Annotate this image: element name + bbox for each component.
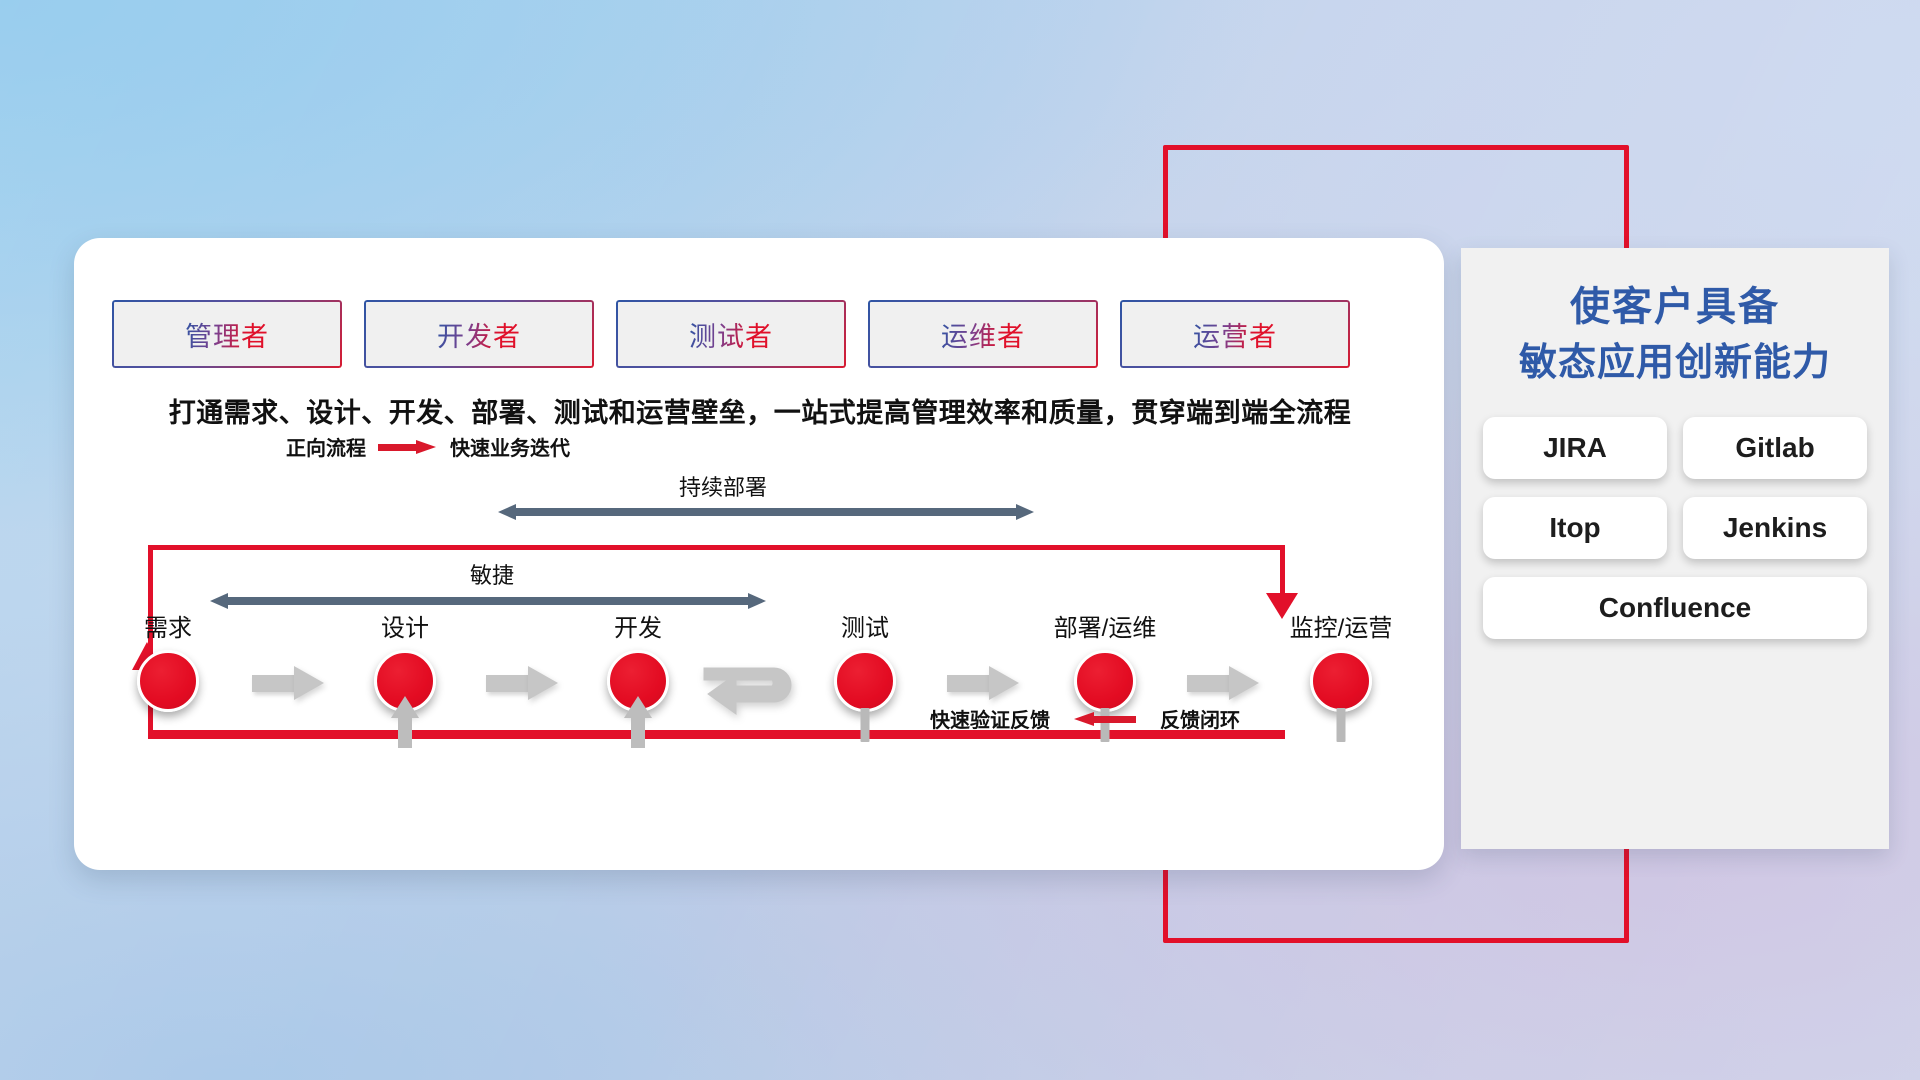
role-chip-tester[interactable]: 测试者	[616, 300, 846, 368]
pipeline-node-label: 监控/运营	[1290, 608, 1393, 643]
role-chip-label: 运维者	[941, 315, 1025, 354]
arrow-head-right-icon	[1016, 504, 1034, 520]
outcome-title-line-2: 敏态应用创新能力	[1461, 336, 1889, 391]
pipeline-node-requirement[interactable]: 需求	[137, 650, 199, 712]
arrow-left-red-icon	[1074, 712, 1136, 726]
legend-feedback-right-label: 反馈闭环	[1160, 704, 1240, 733]
tool-chip-itop[interactable]: Itop	[1483, 497, 1667, 559]
role-chip-ops[interactable]: 运维者	[868, 300, 1098, 368]
legend-forward-flow: 正向流程 快速业务迭代	[286, 432, 570, 461]
dev-test-cycle-arrow-icon	[702, 656, 812, 723]
role-chip-label: 管理者	[185, 315, 269, 354]
pipeline-node-dot	[834, 650, 896, 712]
outcome-panel: 使客户具备 敏态应用创新能力 JIRA Gitlab Itop Jenkins …	[1461, 248, 1889, 849]
tool-chip-jira[interactable]: JIRA	[1483, 417, 1667, 479]
arrow-right-red-icon	[378, 440, 438, 454]
outcome-panel-title: 使客户具备 敏态应用创新能力	[1461, 278, 1889, 391]
arrow-shaft	[486, 675, 532, 692]
role-chip-label: 测试者	[689, 315, 773, 354]
tool-chip-grid: JIRA Gitlab Itop Jenkins Confluence	[1479, 417, 1871, 639]
pipeline-arrow-3	[947, 666, 1019, 700]
pipeline-node-stem	[861, 708, 870, 742]
pipeline-node-stem	[1337, 708, 1346, 742]
pipeline-node-development[interactable]: 开发	[607, 650, 669, 712]
arrow-shaft	[1187, 675, 1233, 692]
legend-forward-right-label: 快速业务迭代	[450, 432, 570, 461]
pipeline-node-stem	[631, 712, 645, 748]
slide-canvas: 管理者 开发者 测试者 运维者 运营者 打通需求、设计、开发、部署、测试和运营壁…	[0, 0, 1920, 1080]
span-label-agile: 敏捷	[470, 558, 514, 590]
arrow-shaft	[947, 675, 993, 692]
pipeline-node-label: 开发	[614, 608, 662, 643]
legend-feedback-left-label: 快速验证反馈	[930, 704, 1050, 733]
legend-forward-left-label: 正向流程	[286, 432, 366, 461]
pipeline-node-label: 测试	[841, 608, 889, 643]
pipeline-node-deploy-ops[interactable]: 部署/运维	[1074, 650, 1136, 712]
role-chip-label: 开发者	[437, 315, 521, 354]
span-arrow-continuous-deployment	[498, 504, 1034, 520]
span-arrow-agile	[210, 593, 766, 609]
pipeline-arrow-2	[486, 666, 558, 700]
tool-chip-gitlab[interactable]: Gitlab	[1683, 417, 1867, 479]
role-chip-manager[interactable]: 管理者	[112, 300, 342, 368]
pipeline-loop-top	[148, 545, 1285, 550]
pipeline-node-label: 部署/运维	[1054, 608, 1157, 643]
legend-feedback-loop: 快速验证反馈 反馈闭环	[930, 704, 1240, 733]
arrow-head-right-icon	[1229, 666, 1259, 700]
pipeline-node-monitor-operations[interactable]: 监控/运营	[1310, 650, 1372, 712]
pipeline-node-label: 设计	[381, 608, 429, 643]
arrow-head-right-icon	[748, 593, 766, 609]
role-chip-operations[interactable]: 运营者	[1120, 300, 1350, 368]
outcome-title-line-1: 使客户具备	[1461, 278, 1889, 336]
arrow-head-right-icon	[528, 666, 558, 700]
pipeline-loop-right	[1280, 545, 1285, 597]
span-label-continuous-deployment: 持续部署	[679, 470, 767, 502]
pipeline-node-dot	[1310, 650, 1372, 712]
tool-chip-jenkins[interactable]: Jenkins	[1683, 497, 1867, 559]
role-chip-row: 管理者 开发者 测试者 运维者 运营者	[112, 300, 1350, 368]
arrow-shaft	[512, 508, 1020, 516]
arrow-shaft	[224, 597, 752, 605]
pipeline-node-dot	[137, 650, 199, 712]
arrow-head-right-icon	[294, 666, 324, 700]
role-chip-developer[interactable]: 开发者	[364, 300, 594, 368]
arrow-shaft	[252, 675, 298, 692]
pipeline-node-label: 需求	[144, 608, 192, 643]
pipeline-arrow-1	[252, 666, 324, 700]
arrow-head-right-icon	[989, 666, 1019, 700]
pipeline-node-design[interactable]: 设计	[374, 650, 436, 712]
pipeline-arrow-4	[1187, 666, 1259, 700]
tool-chip-confluence[interactable]: Confluence	[1483, 577, 1867, 639]
devops-overview-card: 管理者 开发者 测试者 运维者 运营者 打通需求、设计、开发、部署、测试和运营壁…	[74, 238, 1444, 870]
pipeline-node-test[interactable]: 测试	[834, 650, 896, 712]
role-chip-label: 运营者	[1193, 315, 1277, 354]
pipeline-node-stem	[398, 712, 412, 748]
pipeline-node-dot	[1074, 650, 1136, 712]
card-description: 打通需求、设计、开发、部署、测试和运营壁垒，一站式提高管理效率和质量，贯穿端到端…	[110, 391, 1410, 430]
